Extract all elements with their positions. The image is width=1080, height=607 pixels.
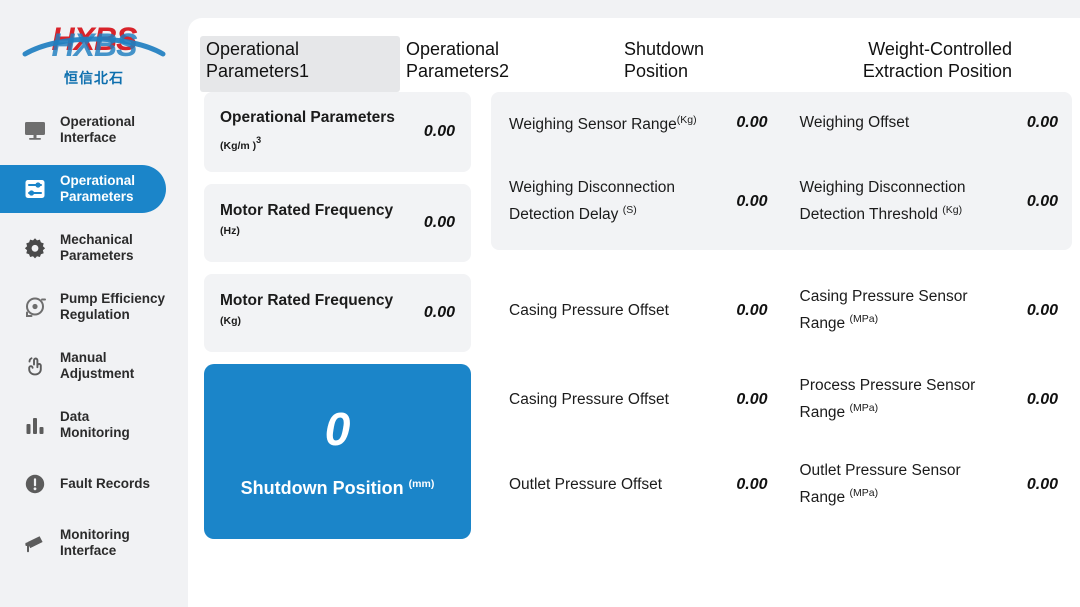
cctv-camera-icon <box>22 530 48 556</box>
sidebar-item-monitoring-interface[interactable]: Monitoring Interface <box>0 519 188 567</box>
group-spacer <box>491 250 1072 268</box>
main-panel: Operational Parameters1 Operational Para… <box>188 18 1080 607</box>
shutdown-position-caption: Shutdown Position (mm) <box>241 473 435 500</box>
sidebar-item-data-monitoring[interactable]: Data Monitoring <box>0 401 188 449</box>
param-card-operational-parameters[interactable]: Operational Parameters (Kg/m )3 0.00 <box>204 92 471 172</box>
content-area: Operational Parameters (Kg/m )3 0.00 Mot… <box>188 92 1080 539</box>
sidebar-item-label: Operational Interface <box>60 114 135 146</box>
sidebar-item-operational-parameters[interactable]: Operational Parameters <box>0 165 166 213</box>
param-card-motor-rated-frequency-kg[interactable]: Motor Rated Frequency (Kg) 0.00 <box>204 274 471 352</box>
param-label: Weighing Offset <box>800 112 1007 134</box>
gear-icon <box>22 235 48 261</box>
param-value: 0.00 <box>1006 114 1058 132</box>
parameter-group-outlet-pressure: Outlet Pressure Offset 0.00 Outlet Press… <box>491 446 1072 524</box>
tab-weight-controlled-extraction-position[interactable]: Weight-Controlled Extraction Position <box>768 36 1018 92</box>
param-label: Motor Rated Frequency (Hz) <box>220 200 414 246</box>
sidebar-item-operational-interface[interactable]: Operational Interface <box>0 106 188 154</box>
sidebar-item-label: Pump Efficiency Regulation <box>60 291 165 323</box>
sliders-icon <box>22 176 48 202</box>
group-column-left: Outlet Pressure Offset 0.00 <box>491 446 782 524</box>
sidebar-item-manual-adjustment[interactable]: Manual Adjustment <box>0 342 188 390</box>
param-row-weighing-offset[interactable]: Weighing Offset 0.00 <box>782 92 1073 154</box>
param-row-casing-pressure-offset-2[interactable]: Casing Pressure Offset 0.00 <box>491 354 782 446</box>
param-label: Outlet Pressure Sensor Range (MPa) <box>800 460 1007 509</box>
alert-circle-icon <box>22 471 48 497</box>
param-row-casing-pressure-offset-1[interactable]: Casing Pressure Offset 0.00 <box>491 268 782 354</box>
param-label: Casing Pressure Offset <box>509 300 716 322</box>
param-value: 0.00 <box>1006 391 1058 409</box>
app-window: HXBS HXBS 恒信北石 Operational Interface <box>0 0 1080 607</box>
shutdown-position-value: 0 <box>325 403 351 455</box>
tab-shutdown-position[interactable]: Shutdown Position <box>618 36 768 92</box>
param-label: Motor Rated Frequency (Kg) <box>220 290 414 336</box>
param-row-weighing-disconnection-detection-delay[interactable]: Weighing Disconnection Detection Delay (… <box>491 154 782 250</box>
sidebar-item-label: Fault Records <box>60 476 150 492</box>
bar-chart-icon <box>22 412 48 438</box>
param-label: Casing Pressure Sensor Range (MPa) <box>800 286 1007 335</box>
sidebar-item-label: Monitoring Interface <box>60 527 130 559</box>
sidebar-item-label: Operational Parameters <box>60 173 135 205</box>
sidebar-item-fault-records[interactable]: Fault Records <box>0 460 188 508</box>
group-column-right: Process Pressure Sensor Range (MPa) 0.00 <box>782 354 1073 446</box>
param-label: Process Pressure Sensor Range (MPa) <box>800 375 1007 424</box>
sidebar-item-pump-efficiency-regulation[interactable]: Pump Efficiency Regulation <box>0 283 188 331</box>
parameter-group-casing-pressure-1: Casing Pressure Offset 0.00 Casing Press… <box>491 268 1072 354</box>
right-parameter-panel: Weighing Sensor Range(Kg) 0.00 Weighing … <box>491 92 1072 539</box>
param-value: 0.00 <box>424 304 455 322</box>
param-value: 0.00 <box>424 214 455 232</box>
sidebar-item-label: Manual Adjustment <box>60 350 134 382</box>
param-value: 0.00 <box>716 391 768 409</box>
pump-icon <box>22 294 48 320</box>
param-value: 0.00 <box>716 114 768 132</box>
param-label: Weighing Disconnection Detection Delay (… <box>509 177 716 226</box>
param-value: 0.00 <box>1006 476 1058 494</box>
shutdown-position-highlight-card[interactable]: 0 Shutdown Position (mm) <box>204 364 471 539</box>
param-value: 0.00 <box>424 123 455 141</box>
param-value: 0.00 <box>1006 302 1058 320</box>
hxbs-logo-icon: HXBS HXBS <box>19 20 169 72</box>
svg-text:HXBS: HXBS <box>52 27 139 63</box>
sidebar-nav: Operational Interface Operational Parame… <box>0 106 188 567</box>
sidebar-item-mechanical-parameters[interactable]: Mechanical Parameters <box>0 224 188 272</box>
param-value: 0.00 <box>1006 193 1058 211</box>
brand-logo-cn: 恒信北石 <box>64 68 124 88</box>
param-label: Outlet Pressure Offset <box>509 474 716 496</box>
param-label: Weighing Disconnection Detection Thresho… <box>800 177 1007 226</box>
sidebar-item-label: Mechanical Parameters <box>60 232 134 264</box>
sidebar: HXBS HXBS 恒信北石 Operational Interface <box>0 0 188 607</box>
group-column-left: Casing Pressure Offset 0.00 <box>491 354 782 446</box>
group-column-left: Casing Pressure Offset 0.00 <box>491 268 782 354</box>
param-value: 0.00 <box>716 476 768 494</box>
param-value: 0.00 <box>716 193 768 211</box>
param-row-outlet-pressure-sensor-range[interactable]: Outlet Pressure Sensor Range (MPa) 0.00 <box>782 446 1073 524</box>
param-card-motor-rated-frequency-hz[interactable]: Motor Rated Frequency (Hz) 0.00 <box>204 184 471 262</box>
tab-operational-parameters2[interactable]: Operational Parameters2 <box>400 36 618 92</box>
param-value: 0.00 <box>716 302 768 320</box>
brand-logo[interactable]: HXBS HXBS 恒信北石 <box>0 8 188 100</box>
param-label: Weighing Sensor Range(Kg) <box>509 109 716 136</box>
group-column-left: Weighing Sensor Range(Kg) 0.00 Weighing … <box>491 92 782 250</box>
hand-tap-icon <box>22 353 48 379</box>
tab-operational-parameters1[interactable]: Operational Parameters1 <box>200 36 400 92</box>
param-row-weighing-disconnection-detection-threshold[interactable]: Weighing Disconnection Detection Thresho… <box>782 154 1073 250</box>
sidebar-item-label: Data Monitoring <box>60 409 130 441</box>
group-column-right: Weighing Offset 0.00 Weighing Disconnect… <box>782 92 1073 250</box>
param-row-outlet-pressure-offset[interactable]: Outlet Pressure Offset 0.00 <box>491 446 782 524</box>
left-parameter-column: Operational Parameters (Kg/m )3 0.00 Mot… <box>204 92 471 539</box>
param-row-process-pressure-sensor-range[interactable]: Process Pressure Sensor Range (MPa) 0.00 <box>782 354 1073 446</box>
tab-bar: Operational Parameters1 Operational Para… <box>188 18 1080 92</box>
param-row-weighing-sensor-range[interactable]: Weighing Sensor Range(Kg) 0.00 <box>491 92 782 154</box>
param-label: Operational Parameters (Kg/m )3 <box>220 107 414 157</box>
parameter-group-casing-pressure-2: Casing Pressure Offset 0.00 Process Pres… <box>491 354 1072 446</box>
param-label: Casing Pressure Offset <box>509 389 716 411</box>
param-row-casing-pressure-sensor-range[interactable]: Casing Pressure Sensor Range (MPa) 0.00 <box>782 268 1073 354</box>
group-column-right: Outlet Pressure Sensor Range (MPa) 0.00 <box>782 446 1073 524</box>
monitor-icon <box>22 117 48 143</box>
group-column-right: Casing Pressure Sensor Range (MPa) 0.00 <box>782 268 1073 354</box>
parameter-group-weighing: Weighing Sensor Range(Kg) 0.00 Weighing … <box>491 92 1072 250</box>
